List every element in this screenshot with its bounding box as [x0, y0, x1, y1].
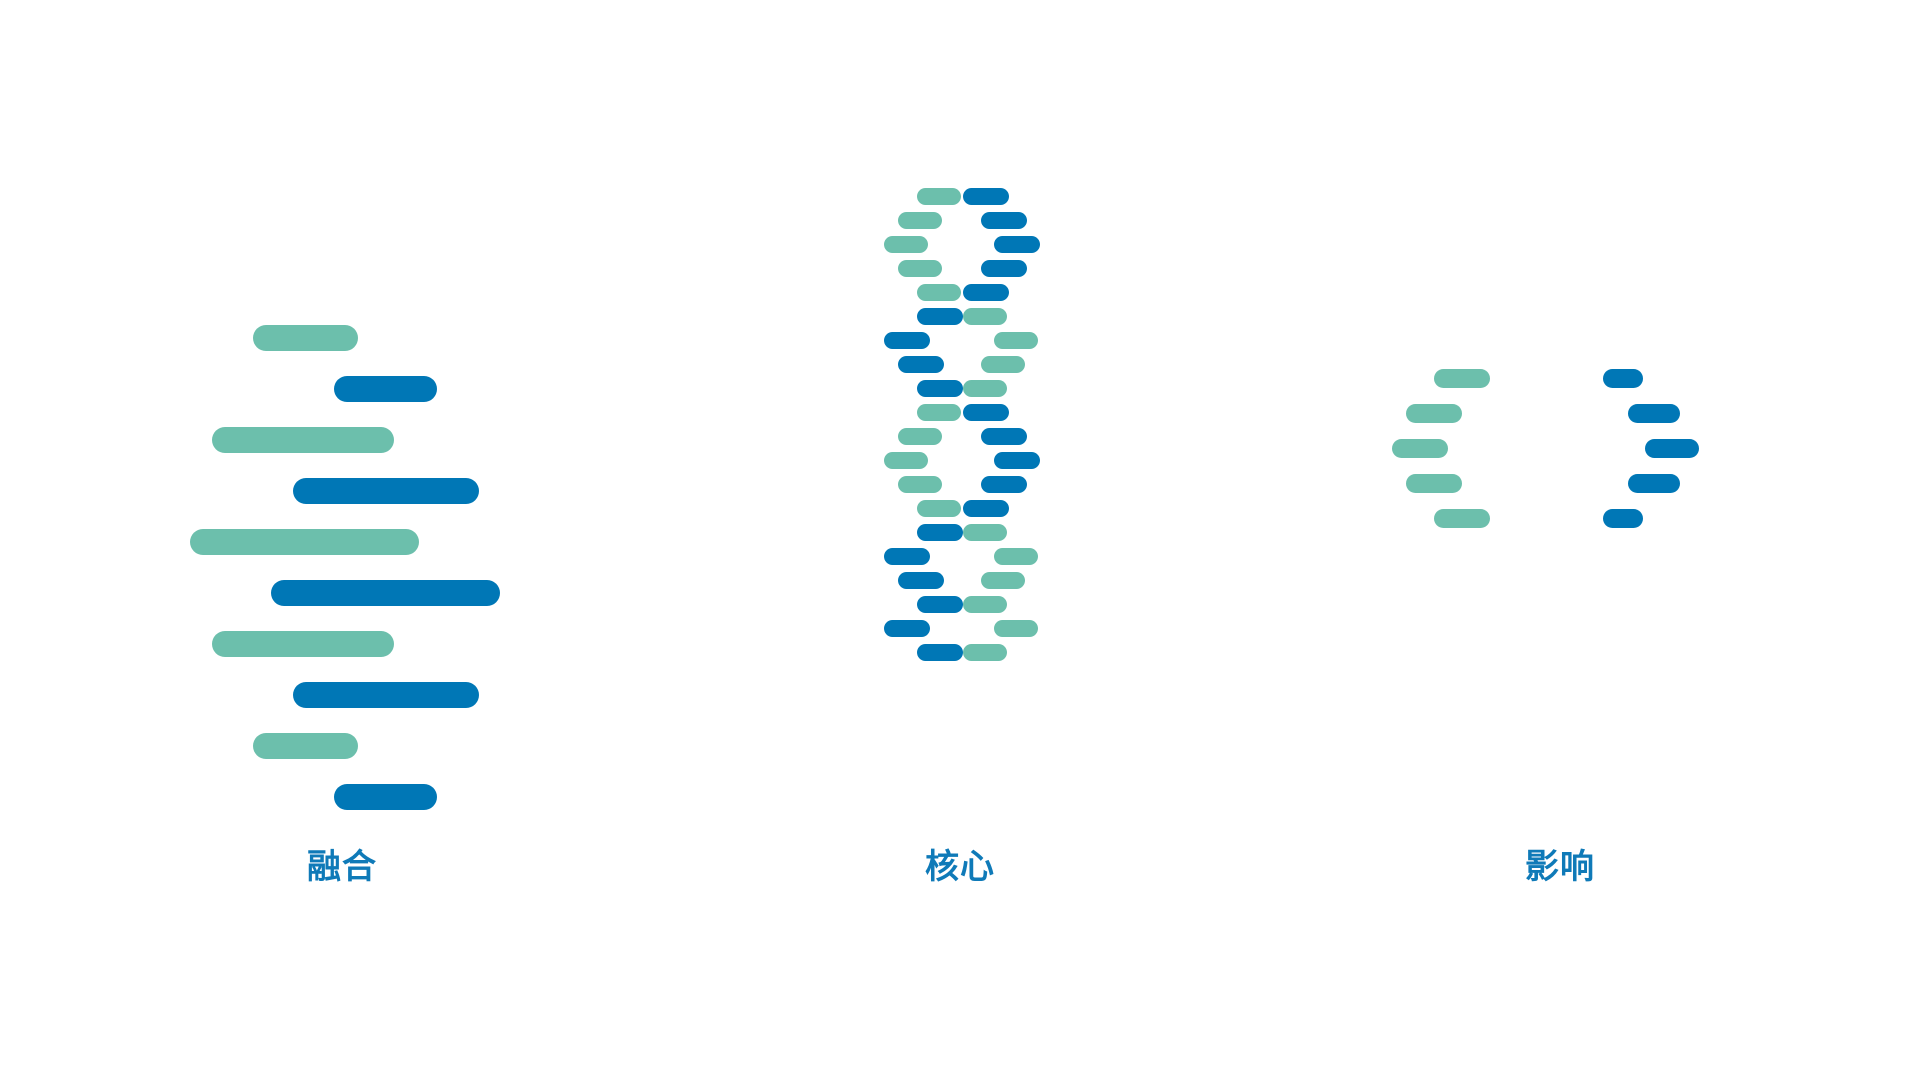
glyph-core-bars — [640, 0, 1280, 800]
bar-core-right-5 — [963, 308, 1007, 325]
bar-core-left-14 — [917, 524, 963, 541]
bar-core-left-4 — [917, 284, 961, 301]
bar-core-right-2 — [994, 236, 1040, 253]
bar-core-right-9 — [963, 404, 1009, 421]
bar-fusion-9 — [334, 784, 437, 810]
bar-core-right-19 — [963, 644, 1007, 661]
bar-impact-left-4 — [1434, 509, 1490, 528]
bar-core-left-18 — [884, 620, 930, 637]
bar-impact-right-0 — [1603, 369, 1643, 388]
bar-impact-right-2 — [1645, 439, 1699, 458]
bar-core-right-16 — [981, 572, 1025, 589]
bar-fusion-6 — [212, 631, 394, 657]
bar-core-right-18 — [994, 620, 1038, 637]
bar-core-right-6 — [994, 332, 1038, 349]
bar-core-left-11 — [884, 452, 928, 469]
bar-impact-right-3 — [1628, 474, 1680, 493]
bar-core-left-2 — [884, 236, 928, 253]
bar-core-right-13 — [963, 500, 1009, 517]
bar-core-right-7 — [981, 356, 1025, 373]
glyph-impact-bars — [1240, 0, 1880, 800]
bar-core-right-8 — [963, 380, 1007, 397]
glyph-group-core[interactable]: 核心 — [640, 0, 1280, 1080]
bar-impact-right-1 — [1628, 404, 1680, 423]
bar-core-right-11 — [994, 452, 1040, 469]
bar-core-left-7 — [898, 356, 944, 373]
bar-core-left-16 — [898, 572, 944, 589]
bar-core-left-10 — [898, 428, 942, 445]
bar-fusion-2 — [212, 427, 394, 453]
glyph-group-fusion[interactable]: 融合 — [22, 0, 662, 1080]
bar-core-right-1 — [981, 212, 1027, 229]
glyph-label-core: 核心 — [640, 845, 1280, 889]
bar-impact-left-3 — [1406, 474, 1462, 493]
bar-fusion-8 — [253, 733, 358, 759]
bar-core-left-1 — [898, 212, 942, 229]
bar-fusion-5 — [271, 580, 500, 606]
bar-impact-left-2 — [1392, 439, 1448, 458]
bar-core-right-4 — [963, 284, 1009, 301]
bar-core-left-3 — [898, 260, 942, 277]
bar-core-right-12 — [981, 476, 1027, 493]
bar-impact-right-4 — [1603, 509, 1643, 528]
glyph-group-impact[interactable]: 影响 — [1240, 0, 1880, 1080]
bar-fusion-7 — [293, 682, 479, 708]
bar-fusion-3 — [293, 478, 479, 504]
bar-core-left-15 — [884, 548, 930, 565]
bar-fusion-0 — [253, 325, 358, 351]
glyph-label-fusion: 融合 — [22, 845, 662, 889]
bar-core-left-9 — [917, 404, 961, 421]
bar-core-left-0 — [917, 188, 961, 205]
bar-core-left-8 — [917, 380, 963, 397]
bar-core-right-17 — [963, 596, 1007, 613]
bar-impact-left-0 — [1434, 369, 1490, 388]
bar-core-left-12 — [898, 476, 942, 493]
glyph-label-impact: 影响 — [1240, 845, 1880, 889]
bar-core-right-3 — [981, 260, 1027, 277]
bar-core-left-5 — [917, 308, 963, 325]
bar-core-left-17 — [917, 596, 963, 613]
glyph-fusion-bars — [22, 0, 662, 800]
bar-core-right-0 — [963, 188, 1009, 205]
bar-impact-left-1 — [1406, 404, 1462, 423]
bar-core-right-14 — [963, 524, 1007, 541]
bar-core-right-15 — [994, 548, 1038, 565]
bar-core-left-13 — [917, 500, 961, 517]
bar-fusion-4 — [190, 529, 419, 555]
bar-core-right-10 — [981, 428, 1027, 445]
bar-fusion-1 — [334, 376, 437, 402]
bar-core-left-6 — [884, 332, 930, 349]
bar-core-left-19 — [917, 644, 963, 661]
illustration-canvas: 融合 核心 影响 — [0, 0, 1920, 1080]
